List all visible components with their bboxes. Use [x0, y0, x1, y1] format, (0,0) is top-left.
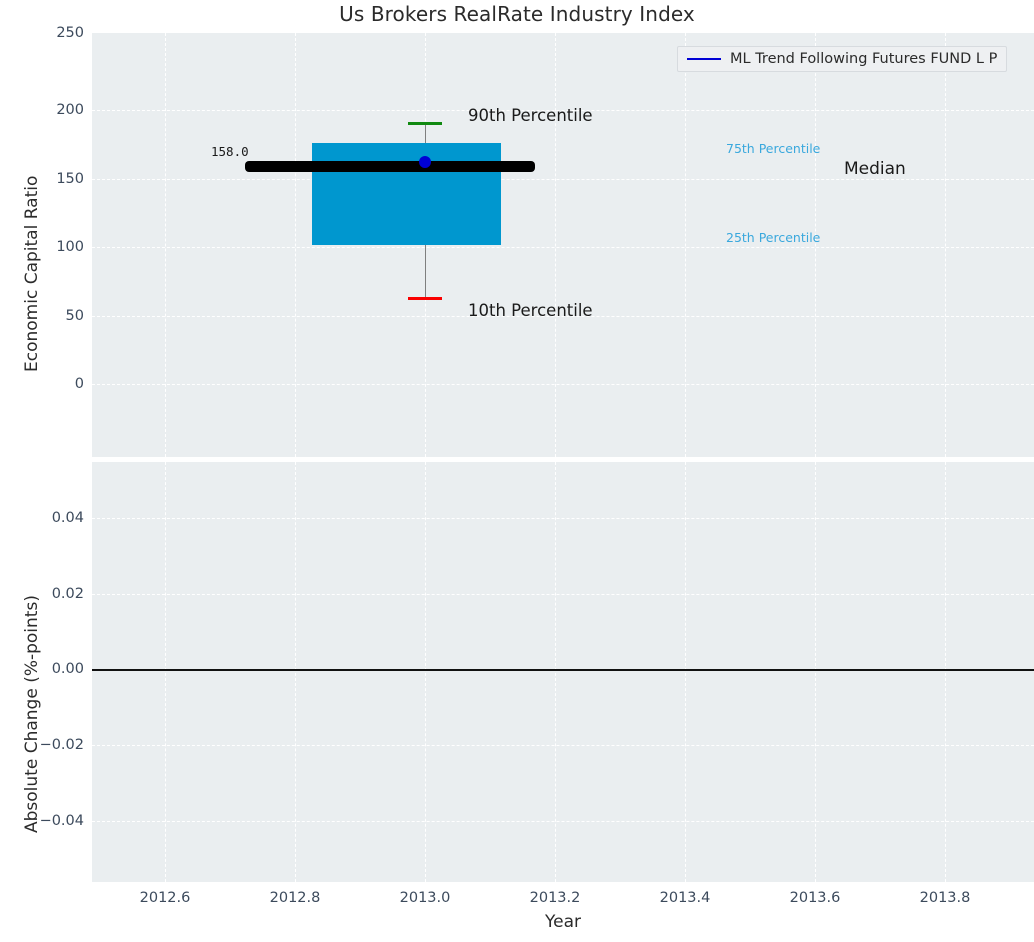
- y-tick-100: 100: [4, 239, 84, 255]
- median-line: [245, 161, 535, 172]
- annotation-p25: 25th Percentile: [726, 230, 820, 245]
- x-tick-2013-8: 2013.8: [920, 890, 971, 906]
- y-tick-200: 200: [4, 102, 84, 118]
- x-axis-label: Year: [92, 912, 1034, 932]
- gridline-y-0: [92, 384, 1034, 385]
- y-axis-label-bottom: Absolute Change (%-points): [22, 595, 42, 833]
- x-tick-2013-4: 2013.4: [660, 890, 711, 906]
- x-tick-2013-6: 2013.6: [790, 890, 841, 906]
- gridline-x-2013-2: [555, 33, 556, 457]
- mean-marker: [419, 156, 431, 168]
- zero-reference-line: [92, 669, 1034, 671]
- median-value-label: 158.0: [211, 144, 249, 159]
- gridline-x-2012-8: [295, 33, 296, 457]
- annotation-median: Median: [844, 159, 906, 179]
- gridline-y-0-04: [92, 518, 1034, 519]
- gridline-y-0-02: [92, 594, 1034, 595]
- x-tick-2013-0: 2013.0: [400, 890, 451, 906]
- whisker-cap-p10: [408, 297, 442, 300]
- y-tick-250: 250: [4, 25, 84, 41]
- legend-label: ML Trend Following Futures FUND L P: [730, 51, 997, 67]
- gridline-x-2013-6-bot: [815, 462, 816, 882]
- gridline-y-150: [92, 179, 1034, 180]
- plot-panel-absolute-change: [92, 462, 1034, 882]
- y-tick-neg-0-04: −0.04: [4, 813, 84, 829]
- y-axis-bottom: 0.04 0.02 0.00 −0.02 −0.04: [0, 462, 84, 882]
- gridline-x-2013-4-bot: [685, 462, 686, 882]
- x-tick-2012-6: 2012.6: [140, 890, 191, 906]
- gridline-x-2012-6-bot: [165, 462, 166, 882]
- x-axis: 2012.6 2012.8 2013.0 2013.2 2013.4 2013.…: [92, 890, 1034, 912]
- y-tick-0-00: 0.00: [4, 661, 84, 677]
- x-tick-2012-8: 2012.8: [270, 890, 321, 906]
- gridline-y-100: [92, 247, 1034, 248]
- y-tick-0-02: 0.02: [4, 586, 84, 602]
- x-tick-2013-2: 2013.2: [530, 890, 581, 906]
- page-title: Us Brokers RealRate Industry Index: [0, 2, 1034, 26]
- y-tick-0-04: 0.04: [4, 510, 84, 526]
- y-tick-150: 150: [4, 171, 84, 187]
- legend-line-swatch: [687, 58, 721, 60]
- gridline-x-2013-8: [945, 33, 946, 457]
- y-tick-50: 50: [4, 308, 84, 324]
- y-tick-neg-0-02: −0.02: [4, 737, 84, 753]
- gridline-x-2013-0-bot: [425, 462, 426, 882]
- gridline-x-2013-6: [815, 33, 816, 457]
- gridline-x-2012-8-bot: [295, 462, 296, 882]
- chart-figure: Us Brokers RealRate Industry Index 158.0…: [0, 0, 1034, 942]
- annotation-p10: 10th Percentile: [468, 301, 593, 320]
- plot-panel-economic-capital-ratio: 158.0 90th Percentile 10th Percentile 75…: [92, 33, 1034, 457]
- annotation-p75: 75th Percentile: [726, 141, 820, 156]
- y-axis-label-top: Economic Capital Ratio: [22, 176, 42, 372]
- annotation-p90: 90th Percentile: [468, 106, 593, 125]
- box-iqr: [312, 143, 501, 245]
- gridline-y-neg-0-04: [92, 821, 1034, 822]
- gridline-x-2013-8-bot: [945, 462, 946, 882]
- gridline-x-2013-4: [685, 33, 686, 457]
- y-axis-top: 250 200 150 100 50 0: [0, 33, 84, 457]
- whisker-cap-p90: [408, 122, 442, 125]
- legend[interactable]: ML Trend Following Futures FUND L P: [677, 46, 1007, 72]
- gridline-y-neg-0-02: [92, 745, 1034, 746]
- gridline-x-2012-6: [165, 33, 166, 457]
- gridline-x-2013-2-bot: [555, 462, 556, 882]
- y-tick-0: 0: [4, 376, 84, 392]
